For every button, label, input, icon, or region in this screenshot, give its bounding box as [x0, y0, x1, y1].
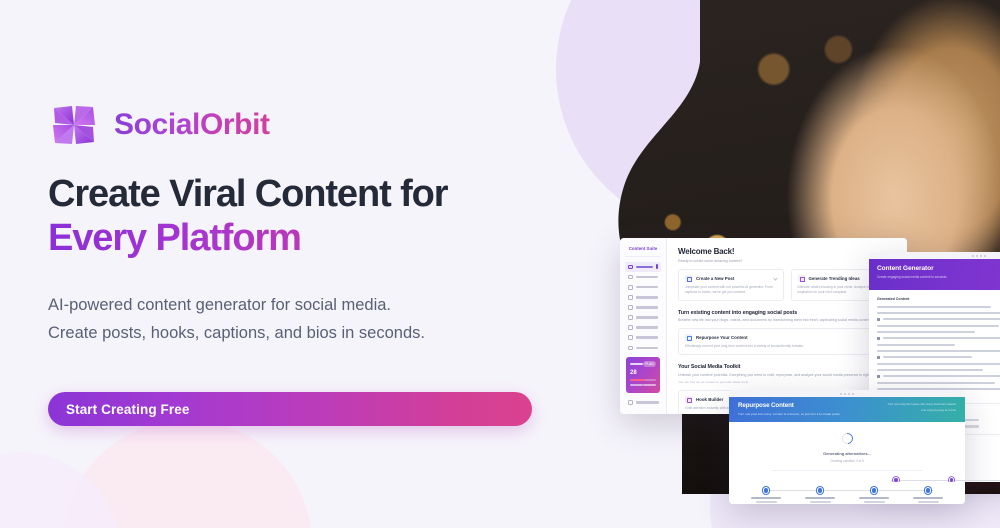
credits-progress-bar — [630, 379, 656, 382]
repurpose-meta: Turn one long-form piece into many short… — [887, 402, 956, 417]
sidebar-item-analyze[interactable] — [625, 333, 661, 342]
step-target-platforms[interactable] — [853, 487, 895, 504]
sidebar-item-caption-generator[interactable] — [625, 313, 661, 322]
section-2-heading: Turn existing content into engaging soci… — [678, 310, 896, 316]
repurpose-subtitle: Turn one post into many: content is a br… — [738, 412, 840, 416]
sparkle-icon — [798, 275, 805, 282]
credits-footer-left — [630, 384, 643, 386]
content-line — [877, 331, 1000, 333]
credits-card[interactable]: PLAN 28 — [626, 357, 660, 393]
home-badge — [656, 264, 658, 269]
welcome-heading: Welcome Back! — [678, 247, 896, 256]
sidebar-item-label — [636, 266, 653, 268]
card-title: Repurpose Your Content — [696, 335, 748, 340]
generator-header: Content Generator Create engaging social… — [869, 259, 1000, 290]
content-line — [877, 350, 1000, 352]
content-line — [877, 382, 1000, 384]
status-primary: Generating alternatives... — [729, 451, 965, 456]
sidebar-item-ai-research[interactable] — [625, 303, 661, 312]
progress-bar — [772, 470, 922, 472]
step-dot-icon — [763, 487, 770, 494]
repurpose-stepper — [729, 480, 965, 504]
step-dot-icon — [893, 477, 899, 482]
create-new-post-card[interactable]: Create a New Post Jumpstart your content… — [678, 269, 784, 301]
bio-icon — [628, 325, 633, 330]
search-icon — [628, 305, 633, 310]
headline-line-2: Every Platform — [48, 216, 518, 261]
hook-icon — [628, 295, 633, 300]
content-line — [877, 325, 1000, 327]
sidebar-item-label — [636, 316, 659, 318]
repurpose-status-area: Generating alternatives... Creating vari… — [729, 422, 965, 480]
card-title: Generate Trending Ideas — [809, 276, 860, 281]
window-titlebar — [869, 252, 1000, 259]
card-body: Jumpstart your content with our powerful… — [685, 285, 777, 295]
content-line — [877, 337, 1000, 340]
home-icon — [628, 265, 633, 270]
sidebar-item-label — [636, 347, 659, 349]
content-line — [877, 375, 1000, 378]
account-label — [636, 401, 660, 403]
content-line — [877, 369, 1000, 371]
generator-subtitle: Create engaging social media content in … — [877, 275, 947, 279]
brand-name: SocialOrbit — [114, 108, 270, 142]
content-generator-icon — [628, 275, 633, 280]
credits-footer-right[interactable] — [643, 384, 656, 386]
step-dot-icon — [925, 487, 932, 494]
generated-content-label: Generated Content — [877, 297, 1000, 301]
folder-icon — [628, 346, 633, 351]
hero-subheadline: AI-powered content generator for social … — [48, 291, 433, 348]
card-title: Create a New Post — [696, 276, 734, 281]
sidebar-item-label — [636, 296, 659, 298]
status-secondary: Creating variation 3 of 5 — [729, 459, 965, 463]
credits-title — [630, 363, 643, 365]
pinwheel-icon — [48, 99, 100, 151]
step-select-platform[interactable] — [990, 477, 1000, 482]
welcome-subheading: Ready to create some amazing content? — [678, 259, 896, 263]
sidebar-item-content-generator[interactable] — [625, 273, 661, 282]
content-line — [877, 318, 1000, 321]
section-3-heading: Your Social Media Toolkit — [678, 364, 896, 370]
sidebar-item-repurpose-content[interactable] — [625, 283, 661, 292]
plan-badge: PLAN — [643, 361, 656, 366]
repurpose-header: Repurpose Content Turn one post into man… — [729, 397, 965, 422]
window-titlebar — [729, 390, 965, 397]
content-line — [877, 306, 1000, 308]
brand-lockup: SocialOrbit — [48, 99, 270, 151]
sidebar-item-label — [636, 326, 659, 328]
sidebar-item-label — [636, 336, 659, 338]
loading-spinner-icon — [839, 431, 854, 446]
card-body: Effortlessly convert your long-form cont… — [685, 344, 889, 349]
dashboard-mockup[interactable]: Content Suite — [620, 238, 907, 414]
credits-count: 28 — [630, 370, 656, 376]
step-dot-icon — [817, 487, 824, 494]
repurpose-title: Repurpose Content — [738, 402, 840, 409]
start-creating-free-button[interactable]: Start Creating Free — [48, 392, 532, 426]
step-topic[interactable] — [934, 477, 968, 482]
step-select-tone[interactable] — [879, 477, 913, 482]
refresh-icon — [685, 334, 692, 341]
sidebar-item-account[interactable] — [625, 398, 662, 407]
content-line — [877, 356, 1000, 359]
chart-icon — [628, 335, 633, 340]
document-plus-icon — [685, 275, 692, 282]
repurpose-meta-line-2: one copy-by-copy at a time — [887, 408, 956, 412]
content-line — [877, 344, 1000, 346]
step-dot-icon — [871, 487, 878, 494]
section-2-body: Breathe new life into your blogs, videos… — [678, 318, 896, 322]
bolt-icon — [685, 396, 692, 403]
sidebar-item-label — [636, 286, 659, 288]
mockup-sidebar-title: Content Suite — [625, 246, 661, 257]
hero-content: SocialOrbit Create Viral Content for Eve… — [48, 0, 548, 528]
repurpose-your-content-card[interactable]: Repurpose Your Content Effortlessly conv… — [678, 328, 896, 355]
step-tone[interactable] — [799, 487, 841, 504]
mockup-sidebar: Content Suite — [620, 238, 667, 414]
page-title: Create Viral Content for Every Platform — [48, 173, 518, 260]
user-icon — [628, 400, 633, 405]
sidebar-item-home[interactable] — [625, 262, 661, 272]
repurpose-content-mockup[interactable]: Repurpose Content Turn one post into man… — [729, 390, 965, 504]
headline-line-1: Create Viral Content for — [48, 173, 518, 216]
step-dot-icon — [949, 477, 955, 482]
card-title: Hook Builder — [696, 397, 723, 402]
sidebar-item-label — [636, 306, 659, 308]
sidebar-item-label — [636, 276, 659, 278]
sidebar-item-bio-generator[interactable] — [625, 323, 661, 332]
chevron-right-icon — [773, 276, 777, 280]
generator-title: Content Generator — [877, 265, 947, 272]
section-3-note: You can free all our presets to generate… — [678, 380, 896, 384]
caption-icon — [628, 315, 633, 320]
step-generate[interactable] — [907, 487, 949, 504]
quick-action-cards: Create a New Post Jumpstart your content… — [678, 269, 896, 301]
repurpose-icon — [628, 285, 633, 290]
content-line — [877, 363, 1000, 365]
step-paste-content[interactable] — [745, 487, 787, 504]
content-line — [877, 312, 1000, 314]
section-3-body: Unleash your creative potential. Everyth… — [678, 373, 896, 377]
sidebar-item-my-content[interactable] — [625, 343, 661, 352]
sidebar-item-hook-generator[interactable] — [625, 293, 661, 302]
repurpose-meta-line-1: Turn one long-form piece into many short… — [887, 402, 956, 406]
